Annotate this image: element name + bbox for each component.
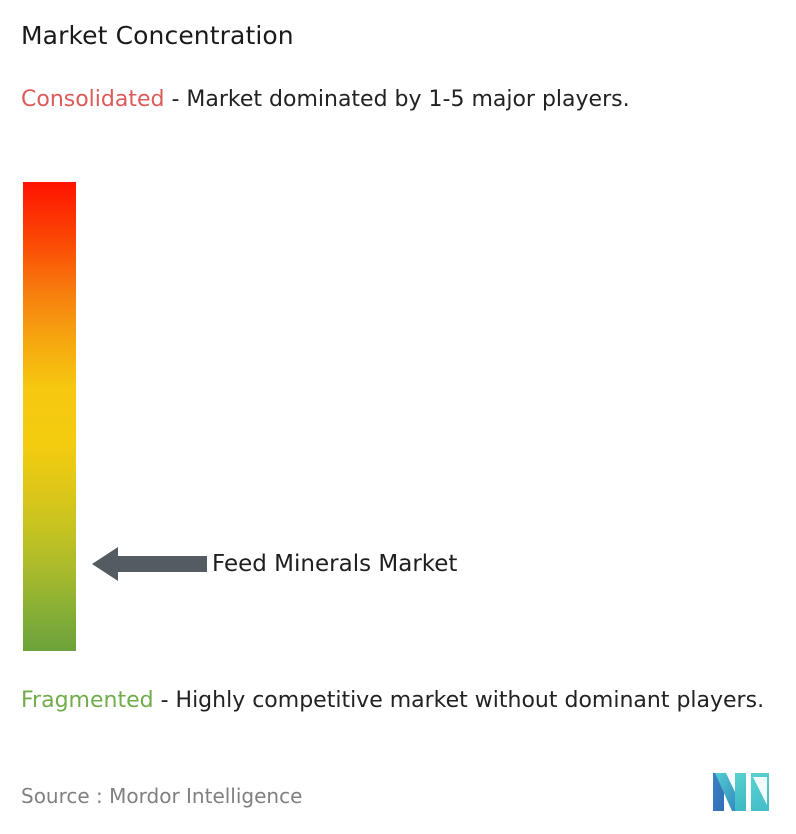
source-attribution: Source : Mordor Intelligence — [21, 782, 302, 810]
legend-fragmented-description: - Highly competitive market without domi… — [161, 688, 764, 713]
source-label: Source : — [21, 784, 103, 808]
legend-fragmented: Fragmented- Highly competitive market wi… — [21, 685, 789, 717]
legend-consolidated-keyword: Consolidated — [21, 87, 164, 112]
gradient-fill — [23, 182, 76, 651]
legend-fragmented-keyword: Fragmented — [21, 688, 154, 713]
concentration-scale-bar — [23, 182, 76, 651]
mordor-intelligence-logo-icon — [713, 771, 775, 813]
legend-consolidated: Consolidated- Market dominated by 1-5 ma… — [21, 84, 783, 116]
market-position-marker: Feed Minerals Market — [92, 543, 552, 585]
left-arrow-icon — [92, 543, 207, 585]
market-concentration-infographic: Market Concentration Consolidated- Marke… — [0, 0, 796, 834]
legend-consolidated-description: - Market dominated by 1-5 major players. — [171, 87, 629, 112]
page-title: Market Concentration — [21, 20, 294, 52]
source-value: Mordor Intelligence — [109, 784, 302, 808]
market-position-label: Feed Minerals Market — [212, 545, 457, 583]
